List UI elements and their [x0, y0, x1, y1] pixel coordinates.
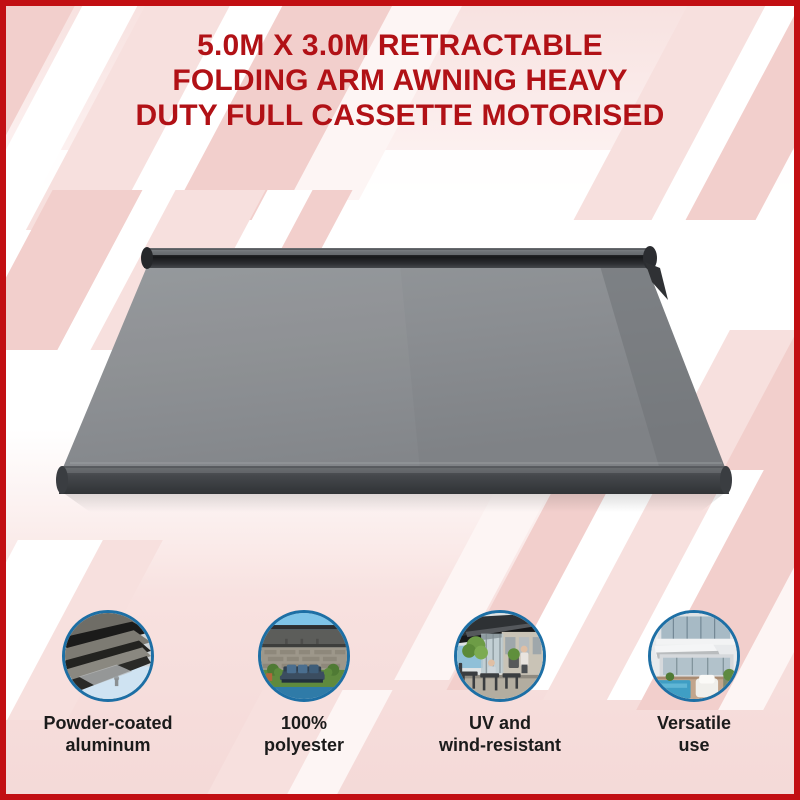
feature-label-line-1: Versatile: [657, 713, 731, 733]
feature-item-powder-coated-aluminum[interactable]: Powder-coated aluminum: [8, 610, 208, 790]
feature-label-line-2: aluminum: [65, 735, 150, 755]
awning-aluminum-bars-icon: [62, 610, 154, 702]
feature-label-line-1: Powder-coated: [43, 713, 172, 733]
feature-label-line-1: 100%: [281, 713, 327, 733]
feature-label-line-2: use: [678, 735, 709, 755]
modern-house-pool-icon: [648, 610, 740, 702]
feature-label: 100% polyester: [264, 712, 344, 756]
title-line-3: DUTY FULL CASSETTE MOTORISED: [0, 98, 800, 133]
feature-item-uv-wind-resistant[interactable]: UV and wind-resistant: [400, 610, 600, 790]
feature-label-line-1: UV and: [469, 713, 531, 733]
feature-label: UV and wind-resistant: [439, 712, 561, 756]
feature-label: Powder-coated aluminum: [43, 712, 172, 756]
title-line-2: FOLDING ARM AWNING HEAVY: [0, 63, 800, 98]
feature-item-versatile-use[interactable]: Versatile use: [594, 610, 794, 790]
feature-label-line-2: wind-resistant: [439, 735, 561, 755]
terrace-cafe-awning-icon: [454, 610, 546, 702]
title-line-1: 5.0M X 3.0M RETRACTABLE: [0, 28, 800, 63]
feature-list: Powder-coated aluminum: [0, 610, 800, 790]
feature-label-line-2: polyester: [264, 735, 344, 755]
feature-item-100-polyester[interactable]: 100% polyester: [204, 610, 404, 790]
patio-sofa-awning-icon: [258, 610, 350, 702]
product-image-page: 5.0M X 3.0M RETRACTABLE FOLDING ARM AWNI…: [0, 0, 800, 800]
feature-label: Versatile use: [657, 712, 731, 756]
page-title: 5.0M X 3.0M RETRACTABLE FOLDING ARM AWNI…: [0, 28, 800, 133]
